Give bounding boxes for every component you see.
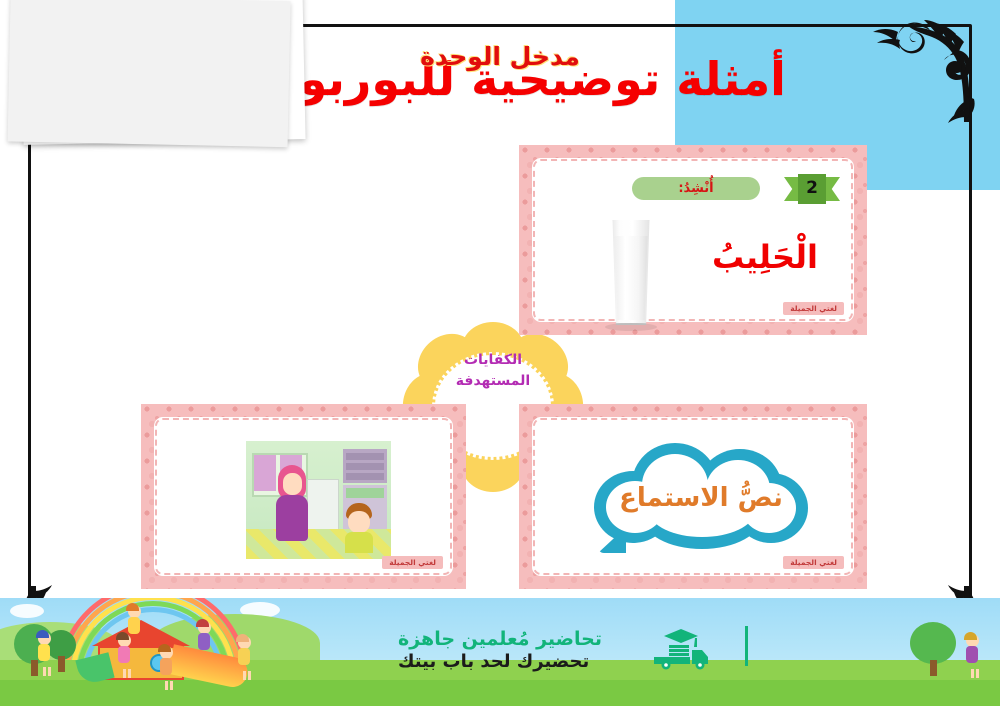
speech-cloud-icon: نصُّ الاستماع [594, 443, 808, 551]
lesson-number-ribbon: 2 [784, 174, 840, 204]
brand-tagline-1: تحاضير مُعلمين جاهزة [398, 628, 602, 650]
milk-word: الْحَلِيبُ [712, 238, 818, 276]
lesson-number: 2 [784, 178, 840, 198]
milk-glass-icon [610, 220, 652, 325]
slide-footer-badge: لغتي الجميلة [783, 556, 844, 569]
delivery-truck-icon [650, 628, 712, 670]
slide-footer-badge: لغتي الجميلة [783, 302, 844, 315]
unit-intro-heading: مدخل الوحدة [675, 42, 1000, 71]
anshid-pill-label: أُنْشِدُ: [632, 177, 760, 200]
anshid-milk-slide[interactable]: أُنْشِدُ: 2 الْحَلِيبُ لغتي الجميلة [519, 145, 867, 335]
mother-figure [272, 465, 312, 541]
competencies-line1: الكفايات [398, 350, 588, 371]
brand-tagline-2: تحضيرك لحد باب بيتك [398, 651, 589, 672]
logo-divider [745, 626, 748, 666]
brand-logo: تحاضير مُعلمين جاهزة تحضيرك لحد باب بيتك [0, 628, 1000, 672]
kitchen-scene-slide[interactable]: لغتي الجميلة [141, 404, 466, 589]
listening-text-label: نصُّ الاستماع [594, 483, 808, 513]
poster-page: أمثلة توضيحية للبوربوينت الكفايات المسته… [0, 0, 1000, 706]
competencies-line2: المستهدفة [398, 371, 588, 392]
boy-figure [343, 503, 375, 553]
slide-canvas: نصُّ الاستماع لغتي الجميلة [532, 417, 854, 576]
slide-footer-badge: لغتي الجميلة [382, 556, 443, 569]
upper-cabinet [343, 449, 387, 483]
brand-logo-text: تحاضير مُعلمين جاهزة تحضيرك لحد باب بيتك [398, 628, 602, 672]
listening-text-slide[interactable]: نصُّ الاستماع لغتي الجميلة [519, 404, 867, 589]
slide-canvas: لغتي الجميلة [154, 417, 453, 576]
kitchen-illustration [246, 441, 391, 559]
slide-canvas: أُنْشِدُ: 2 الْحَلِيبُ لغتي الجميلة [532, 158, 854, 322]
target-competencies-text: الكفايات المستهدفة [398, 350, 588, 392]
